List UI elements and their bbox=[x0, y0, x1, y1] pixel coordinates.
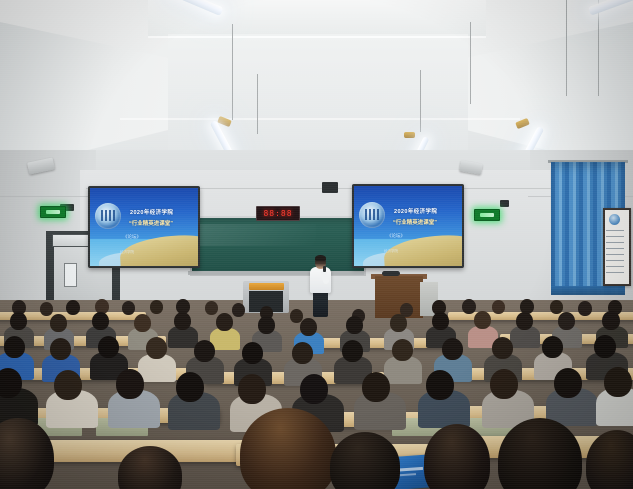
screen-right-footer: 经济学院 bbox=[384, 249, 398, 254]
audience-head bbox=[342, 340, 363, 362]
door-vision-panel bbox=[64, 263, 77, 287]
screen-right-title-line2: “行业精英进课堂” bbox=[393, 218, 437, 226]
light-suspension-rod bbox=[598, 0, 599, 96]
led-clock-display: 88:88 bbox=[256, 206, 300, 221]
audience-head bbox=[98, 336, 119, 358]
ceiling-edge-front bbox=[148, 36, 486, 38]
screen-right-subtitle: 《论坛》 bbox=[387, 233, 405, 239]
audience-head bbox=[492, 300, 505, 314]
audience-head bbox=[390, 314, 407, 332]
teaching-console-top bbox=[249, 283, 284, 290]
wall-conduit-line bbox=[0, 196, 100, 197]
audience-head bbox=[492, 337, 513, 359]
light-suspension-rod bbox=[566, 0, 567, 96]
audience-head bbox=[194, 340, 215, 362]
screen-left-subtitle: 《论坛》 bbox=[123, 234, 141, 240]
screen-left-title-line2: “行业精英进课堂” bbox=[129, 219, 173, 227]
audience-head bbox=[50, 338, 71, 360]
audience-head bbox=[490, 369, 518, 399]
ceiling-edge-rear bbox=[120, 118, 520, 120]
exit-sign-left bbox=[40, 206, 66, 218]
audience-head bbox=[258, 316, 275, 334]
audience-head bbox=[426, 370, 454, 400]
exit-sign-glyph bbox=[480, 213, 494, 218]
screen-right-content: 2020年经济学院 “行业精英进课堂” 《论坛》 经济学院 bbox=[354, 186, 462, 266]
screen-right-title-line1: 2020年经济学院 bbox=[394, 207, 437, 215]
blackboard-glare bbox=[196, 224, 316, 246]
audience-head bbox=[4, 336, 25, 358]
audience-head bbox=[205, 301, 218, 315]
speaker-legs bbox=[313, 291, 328, 317]
audience-head bbox=[40, 302, 53, 316]
chalk-tray bbox=[188, 271, 364, 275]
audience-head bbox=[54, 370, 82, 400]
university-emblem-icon bbox=[95, 203, 121, 229]
security-camera bbox=[500, 200, 509, 207]
audience-head bbox=[292, 342, 313, 364]
audience-head bbox=[134, 314, 151, 332]
audience-head bbox=[602, 311, 620, 330]
audience-head bbox=[66, 300, 80, 315]
screen-left-footer: 经济学院 bbox=[120, 250, 134, 255]
audience-head bbox=[150, 300, 163, 314]
exit-sign-glyph bbox=[46, 210, 60, 215]
light-suspension-rod bbox=[420, 70, 421, 132]
light-fitting-cap bbox=[404, 132, 415, 138]
audience-head bbox=[578, 301, 592, 316]
light-suspension-rod bbox=[232, 24, 233, 120]
audience-head bbox=[50, 314, 67, 332]
audience-head bbox=[392, 339, 413, 361]
audience-head bbox=[442, 338, 463, 360]
audience-head bbox=[146, 337, 167, 359]
curtain-hem bbox=[551, 286, 625, 295]
audience-head bbox=[558, 312, 575, 330]
exit-sign-right bbox=[474, 209, 500, 221]
audience-head bbox=[346, 316, 363, 334]
audience-head bbox=[362, 372, 390, 402]
audience-head bbox=[10, 312, 27, 330]
audience-head bbox=[174, 312, 191, 330]
audience-head bbox=[594, 335, 616, 358]
podium-equipment bbox=[382, 271, 400, 276]
audience-head bbox=[176, 372, 204, 402]
audience-head bbox=[432, 312, 449, 330]
wall-speaker bbox=[322, 182, 338, 193]
wooden-podium[interactable] bbox=[375, 276, 423, 318]
microphone bbox=[323, 266, 326, 272]
projection-screen-right[interactable]: 2020年经济学院 “行业精英进课堂” 《论坛》 经济学院 bbox=[352, 184, 464, 268]
audience-head bbox=[516, 312, 533, 330]
lecture-hall-photo: 88:88 2020年经济学院 “行业精英进课堂” 《论坛》 经济学院 2020… bbox=[0, 0, 633, 489]
light-suspension-rod bbox=[470, 22, 471, 104]
audience-head bbox=[232, 303, 245, 317]
audience-head bbox=[238, 374, 266, 404]
audience-head bbox=[462, 299, 476, 314]
audience-head bbox=[550, 300, 563, 314]
screen-left-content: 2020年经济学院 “行业精英进课堂” 《论坛》 经济学院 bbox=[90, 188, 198, 266]
audience-head bbox=[92, 312, 109, 330]
led-clock-value: 88:88 bbox=[263, 209, 292, 218]
audience-head bbox=[604, 367, 632, 397]
audience-head bbox=[554, 368, 582, 398]
audience-head bbox=[122, 301, 135, 315]
university-emblem-icon bbox=[359, 202, 385, 228]
ceiling-panel-center bbox=[168, 34, 468, 154]
audience-head bbox=[300, 374, 328, 404]
audience-head bbox=[116, 369, 144, 399]
speaker-hair bbox=[315, 255, 326, 261]
audience-head bbox=[300, 318, 317, 336]
audience-head bbox=[242, 342, 263, 364]
audience-head bbox=[216, 313, 233, 331]
light-suspension-rod bbox=[257, 74, 258, 134]
notice-emblem-icon bbox=[609, 214, 620, 225]
audience-head bbox=[542, 336, 563, 358]
screen-left-title-line1: 2020年经济学院 bbox=[130, 208, 173, 216]
projection-screen-left[interactable]: 2020年经济学院 “行业精英进课堂” 《论坛》 经济学院 bbox=[88, 186, 200, 268]
audience-head bbox=[474, 311, 491, 329]
